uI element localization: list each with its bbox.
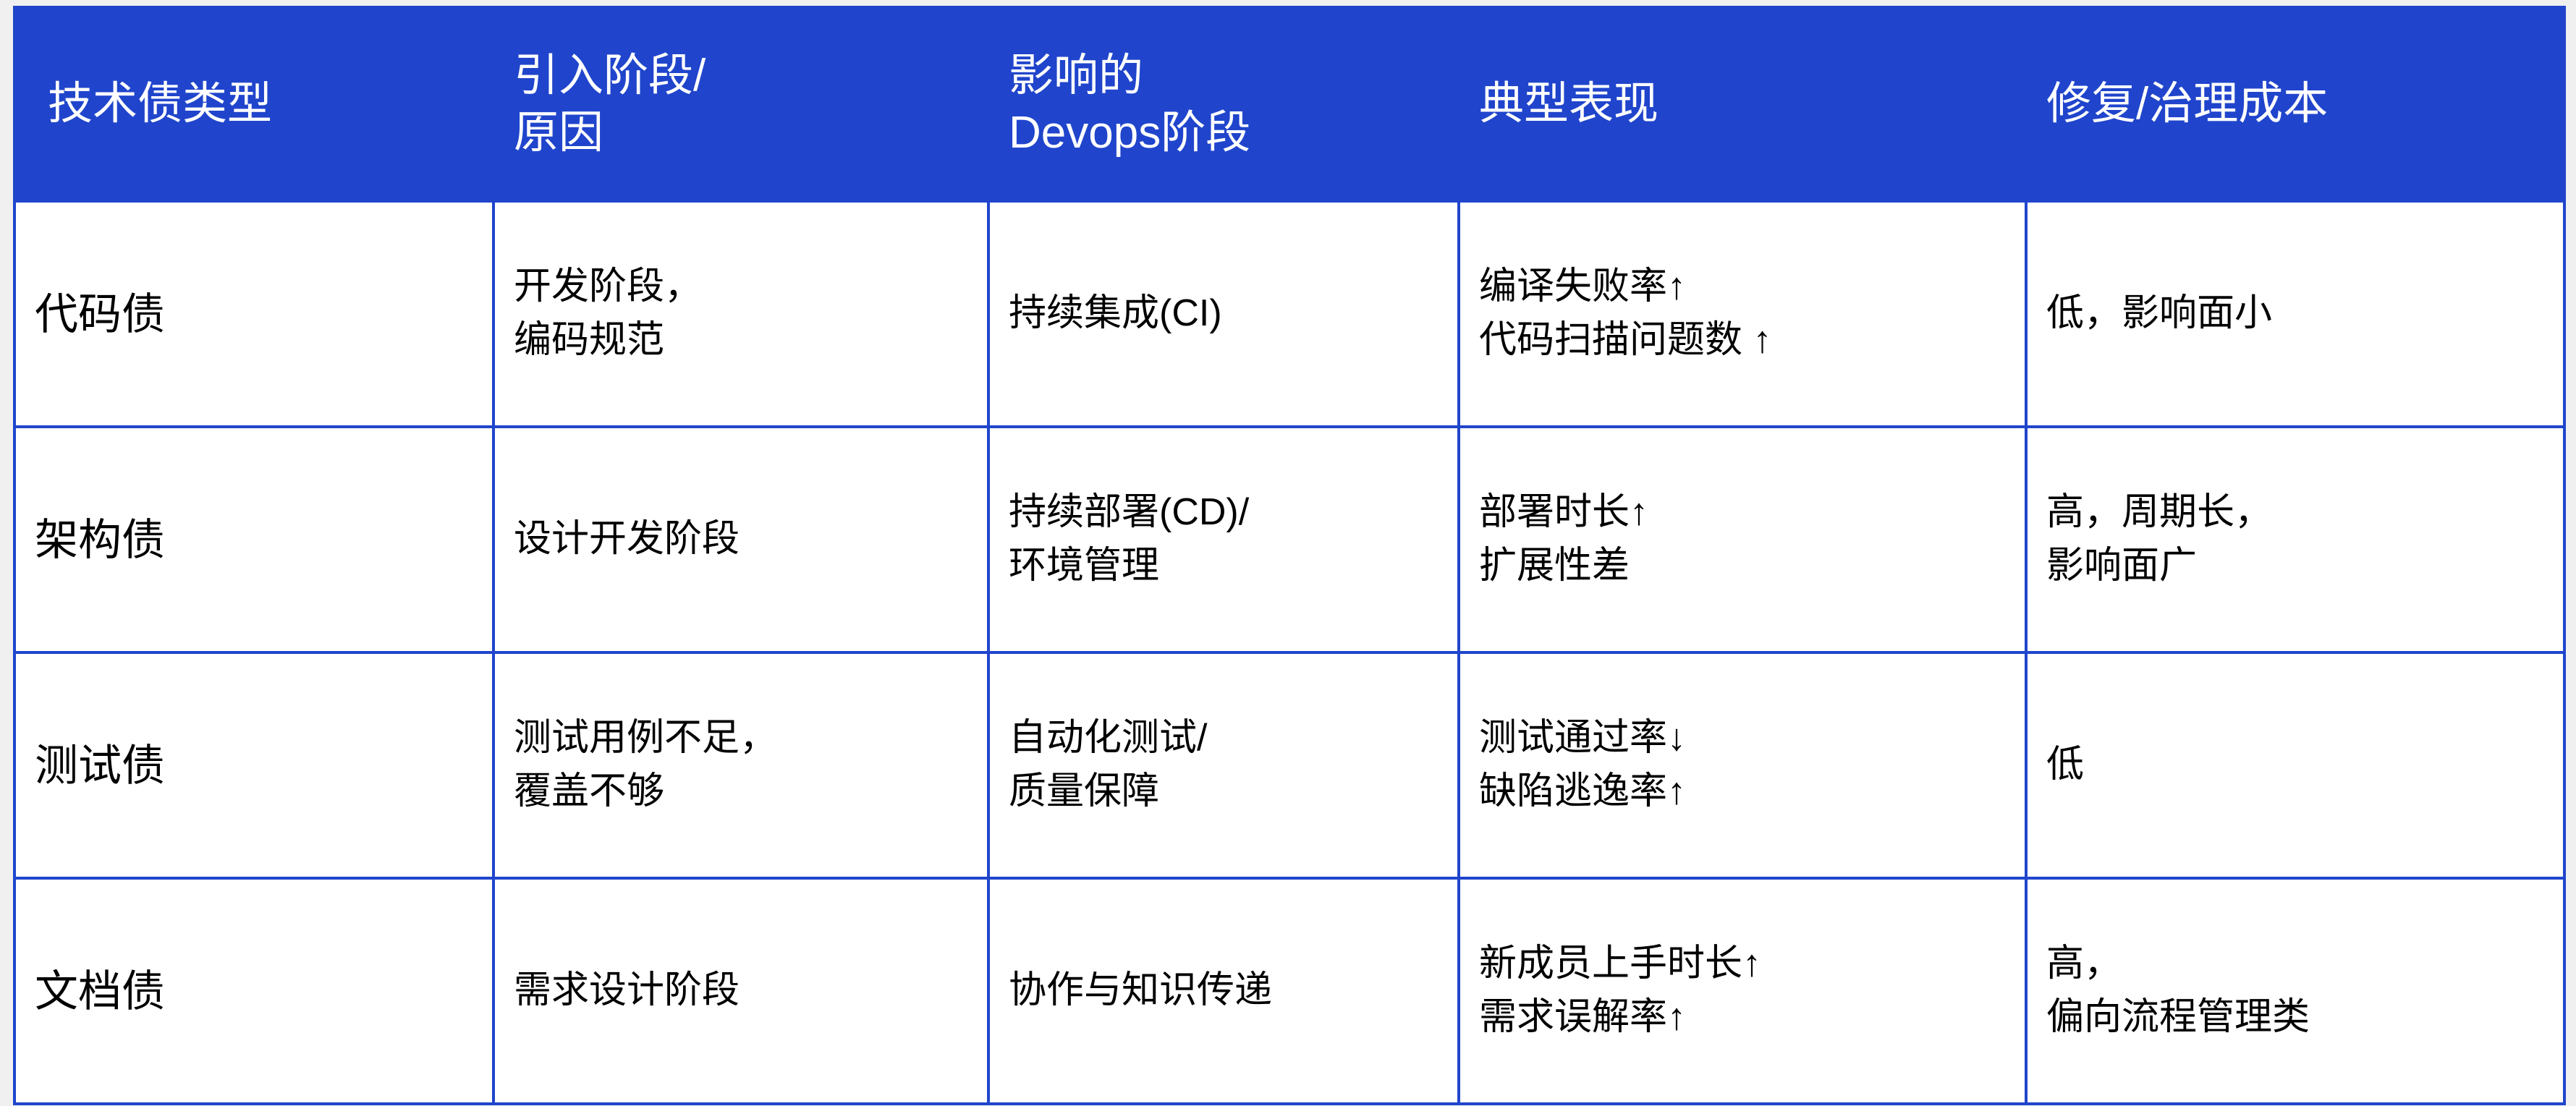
cell-devops-stage: 持续集成(CI) (988, 201, 1459, 427)
column-header-remediation-cost: 修复/治理成本 (2026, 7, 2564, 201)
cell-typical-symptom: 测试通过率↓ 缺陷逃逸率↑ (1459, 652, 2026, 878)
column-header-introduction-stage: 引入阶段/ 原因 (493, 7, 988, 201)
table-body: 代码债 开发阶段， 编码规范 持续集成(CI) 编译失败率↑ 代码扫描问题数 ↑… (14, 201, 2564, 1104)
cell-debt-type: 测试债 (14, 652, 493, 878)
cell-remediation-cost: 低 (2026, 652, 2564, 878)
table-row: 测试债 测试用例不足， 覆盖不够 自动化测试/ 质量保障 测试通过率↓ 缺陷逃逸… (14, 652, 2564, 878)
cell-introduction: 开发阶段， 编码规范 (493, 201, 988, 427)
cell-debt-type: 架构债 (14, 427, 493, 652)
cell-remediation-cost: 高， 偏向流程管理类 (2026, 878, 2564, 1104)
tech-debt-table-container: 技术债类型 引入阶段/ 原因 影响的 Devops阶段 典型表现 修复/治理成本… (13, 6, 2563, 1098)
table-row: 架构债 设计开发阶段 持续部署(CD)/ 环境管理 部署时长↑ 扩展性差 高，周… (14, 427, 2564, 652)
cell-typical-symptom: 新成员上手时长↑ 需求误解率↑ (1459, 878, 2026, 1104)
table-row: 文档债 需求设计阶段 协作与知识传递 新成员上手时长↑ 需求误解率↑ 高， 偏向… (14, 878, 2564, 1104)
cell-devops-stage: 自动化测试/ 质量保障 (988, 652, 1459, 878)
column-header-typical-symptom: 典型表现 (1459, 7, 2026, 201)
column-header-affected-devops-stage: 影响的 Devops阶段 (988, 7, 1459, 201)
cell-typical-symptom: 编译失败率↑ 代码扫描问题数 ↑ (1459, 201, 2026, 427)
cell-debt-type: 代码债 (14, 201, 493, 427)
table-header: 技术债类型 引入阶段/ 原因 影响的 Devops阶段 典型表现 修复/治理成本 (14, 7, 2564, 201)
cell-typical-symptom: 部署时长↑ 扩展性差 (1459, 427, 2026, 652)
cell-devops-stage: 持续部署(CD)/ 环境管理 (988, 427, 1459, 652)
cell-devops-stage: 协作与知识传递 (988, 878, 1459, 1104)
cell-introduction: 设计开发阶段 (493, 427, 988, 652)
cell-debt-type: 文档债 (14, 878, 493, 1104)
cell-introduction: 测试用例不足， 覆盖不够 (493, 652, 988, 878)
header-row: 技术债类型 引入阶段/ 原因 影响的 Devops阶段 典型表现 修复/治理成本 (14, 7, 2564, 201)
cell-remediation-cost: 低，影响面小 (2026, 201, 2564, 427)
table-row: 代码债 开发阶段， 编码规范 持续集成(CI) 编译失败率↑ 代码扫描问题数 ↑… (14, 201, 2564, 427)
cell-introduction: 需求设计阶段 (493, 878, 988, 1104)
cell-remediation-cost: 高，周期长， 影响面广 (2026, 427, 2564, 652)
column-header-debt-type: 技术债类型 (14, 7, 493, 201)
tech-debt-table: 技术债类型 引入阶段/ 原因 影响的 Devops阶段 典型表现 修复/治理成本… (13, 6, 2566, 1105)
